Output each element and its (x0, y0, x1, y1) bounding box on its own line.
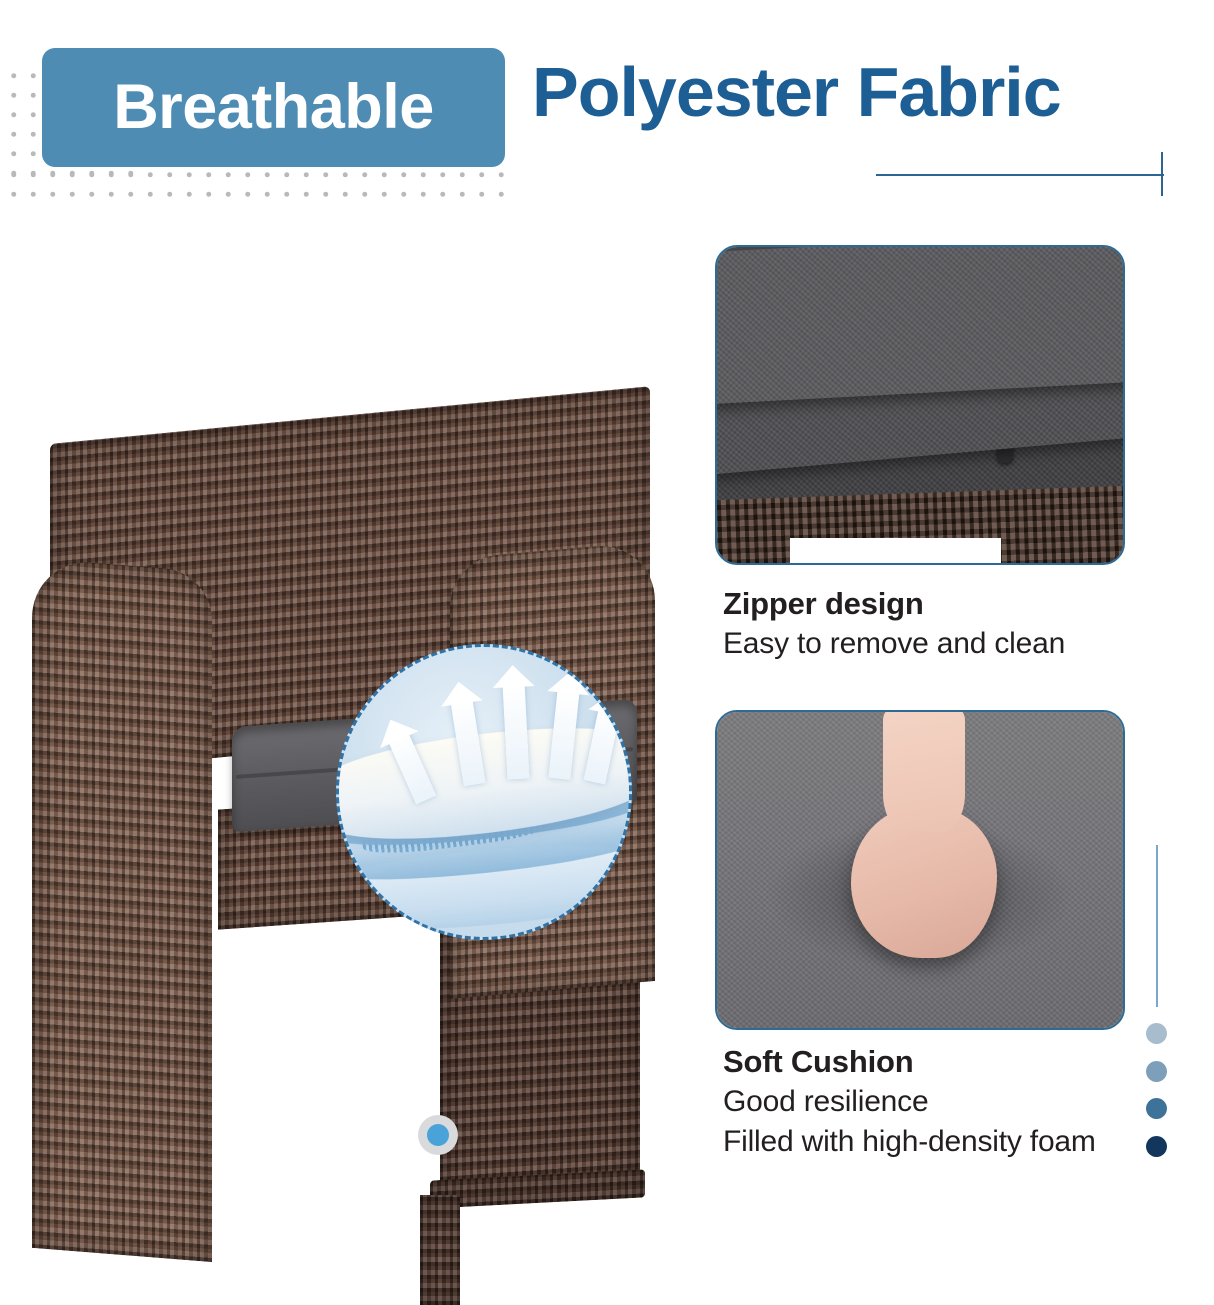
dot-pattern-bottom-icon (4, 165, 504, 205)
decorative-dot-3 (1146, 1098, 1167, 1119)
zipper-caption: Zipper design Easy to remove and clean (723, 585, 1193, 664)
soft-cushion-photo (715, 710, 1125, 1030)
cushion-caption-title: Soft Cushion (723, 1043, 1193, 1082)
zipper-closeup-photo (715, 245, 1125, 565)
zipper-caption-title: Zipper design (723, 585, 1193, 624)
chair-front-leg (420, 1195, 460, 1305)
cushion-photo-content (717, 712, 1123, 1028)
airflow-arrow-up-icon (503, 682, 530, 779)
soft-cushion-caption: Soft Cushion Good resilience Filled with… (723, 1043, 1193, 1162)
zipper-photo-content (717, 247, 1123, 563)
infographic-page: Breathable Polyester Fabric (0, 0, 1214, 1214)
chair-left-arm (32, 558, 212, 1262)
photo-background-gap (790, 538, 1001, 565)
breathable-badge: Breathable (42, 48, 505, 167)
decorative-dot-2 (1146, 1061, 1167, 1082)
fabric-fold-upper (715, 245, 1125, 404)
decorative-dot-4 (1146, 1136, 1167, 1157)
decorative-vertical-line (1156, 845, 1158, 1007)
breathable-badge-label: Breathable (113, 76, 434, 139)
cushion-caption-line-1: Good resilience (723, 1082, 1193, 1122)
forearm (883, 710, 964, 832)
title-cross-tick (1161, 152, 1163, 196)
decorative-dot-1 (1146, 1023, 1167, 1044)
title-underline-rule (876, 174, 1164, 176)
breathability-diagram (336, 644, 632, 940)
breathable-marker-dot-icon (418, 1115, 458, 1155)
rattan-armchair-photo (0, 395, 690, 1135)
zipper-caption-line-1: Easy to remove and clean (723, 624, 1193, 664)
page-title: Polyester Fabric (532, 52, 1061, 133)
cushion-caption-line-2: Filled with high-density foam (723, 1122, 1193, 1162)
